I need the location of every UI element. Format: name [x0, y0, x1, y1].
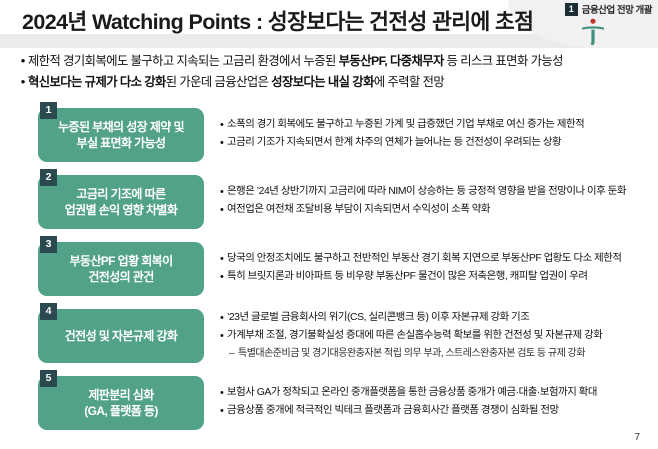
slide-canvas: 2024년 Watching Points : 성장보다는 건전성 관리에 초점…: [0, 0, 658, 449]
section-tag: 1 금융산업 전망 개괄: [565, 2, 652, 16]
row-content: • ’23년 글로벌 금융회사의 위기(CS, 실리콘뱅크 등) 이후 자본규제…: [204, 310, 658, 362]
row-content: • 당국의 안정조치에도 불구하고 전반적인 부동산 경기 회복 지연으로 부동…: [204, 251, 658, 287]
watching-points-list: 누증된 부채의 성장 제약 및 부실 표면화 가능성 1 • 소폭의 경기 회복…: [0, 104, 658, 439]
page-number: 7: [634, 432, 640, 443]
row-content: • 은행은 ’24년 상반기까지 고금리에 따라 NIM이 상승하는 등 긍정적…: [204, 184, 658, 220]
row-label-wrapper: 건전성 및 자본규제 강화 4: [38, 309, 204, 363]
row-label-text: 누증된 부채의 성장 제약 및 부실 표면화 가능성: [58, 119, 184, 151]
row-number-badge: 5: [40, 370, 57, 387]
content-bullet-item: • 금융상품 중개에 적극적인 빅테크 플랫폼과 금융회사간 플랫폼 경쟁이 심…: [220, 403, 650, 419]
content-bullet-item: • 가계부채 조절, 경기불확실성 증대에 따른 손실흡수능력 확보를 위한 건…: [220, 328, 650, 344]
bullet-dot-icon: •: [220, 135, 227, 151]
content-sub-bullet-item: – 특별대손준비금 및 경기대응완충자본 적립 의무 부과, 스트레스완충자본 …: [220, 346, 650, 362]
content-bullet-text: 금융상품 중개에 적극적인 빅테크 플랫폼과 금융회사간 플랫폼 경쟁이 심화될…: [227, 403, 559, 419]
content-bullet-text: 당국의 안정조치에도 불구하고 전반적인 부동산 경기 회복 지연으로 부동산P…: [227, 251, 621, 267]
page-title: 2024년 Watching Points : 성장보다는 건전성 관리에 초점: [22, 5, 533, 36]
sub-bullet-dash-icon: –: [229, 346, 238, 362]
row-label-box[interactable]: 고금리 기조에 따른 업권별 손익 영향 차별화: [38, 175, 204, 229]
content-bullet-text: 고금리 기조가 지속되면서 한계 차주의 연체가 늘어나는 등 건전성이 우려되…: [227, 135, 561, 151]
row-label-text: 제판분리 심화 (GA, 플랫폼 등): [84, 387, 158, 419]
lead-bullet-text-plain-1: 제한적 경기회복에도 불구하고 지속되는 고금리 환경에서 누증된: [28, 54, 339, 68]
lead-bullet-text-plain-2: 에 주력할 전망: [374, 75, 444, 89]
lead-bullet-text-plain-1: 된 가운데 금융산업은: [166, 75, 271, 89]
row-label-box[interactable]: 부동산PF 업황 회복이 건전성의 관건: [38, 242, 204, 296]
content-bullet-item: • 보험사 GA가 정착되고 온라인 중개플랫폼을 통한 금융상품 중개가 예금…: [220, 385, 650, 401]
lead-bullet-text-bold-1: 혁신보다는 규제가 다소 강화: [28, 75, 166, 89]
lead-bullet-text-bold-1: 부동산PF, 다중채무자: [339, 54, 444, 68]
content-bullet-text: 가계부채 조절, 경기불확실성 증대에 따른 손실흡수능력 확보를 위한 건전성…: [227, 328, 602, 344]
bullet-dot-icon: •: [220, 184, 227, 200]
lead-bullet-list: • 제한적 경기회복에도 불구하고 지속되는 고금리 환경에서 누증된 부동산P…: [18, 52, 648, 94]
slide-header: 2024년 Watching Points : 성장보다는 건전성 관리에 초점…: [0, 0, 658, 48]
content-bullet-item: • 은행은 ’24년 상반기까지 고금리에 따라 NIM이 상승하는 등 긍정적…: [220, 184, 650, 200]
content-bullet-item: • 당국의 안정조치에도 불구하고 전반적인 부동산 경기 회복 지연으로 부동…: [220, 251, 650, 267]
content-bullet-text: 은행은 ’24년 상반기까지 고금리에 따라 NIM이 상승하는 등 긍정적 영…: [227, 184, 626, 200]
content-bullet-text: 소폭의 경기 회복에도 불구하고 누증된 가계 및 급증했던 기업 부채로 여신…: [227, 117, 584, 133]
row-label-box[interactable]: 제판분리 심화 (GA, 플랫폼 등): [38, 376, 204, 430]
bullet-dot-icon: •: [220, 310, 227, 326]
row-label-wrapper: 고금리 기조에 따른 업권별 손익 영향 차별화 2: [38, 175, 204, 229]
row-label-box[interactable]: 누증된 부채의 성장 제약 및 부실 표면화 가능성: [38, 108, 204, 162]
lead-bullet-text: 혁신보다는 규제가 다소 강화된 가운데 금융산업은 성장보다는 내실 강화에 …: [28, 73, 444, 91]
bullet-dot-icon: •: [220, 403, 227, 419]
content-bullet-text: 보험사 GA가 정착되고 온라인 중개플랫폼을 통한 금융상품 중개가 예금·대…: [227, 385, 597, 401]
lead-bullet-item: • 제한적 경기회복에도 불구하고 지속되는 고금리 환경에서 누증된 부동산P…: [18, 52, 648, 70]
bullet-dot-icon: •: [220, 269, 227, 285]
row-content: • 보험사 GA가 정착되고 온라인 중개플랫폼을 통한 금융상품 중개가 예금…: [204, 385, 658, 421]
row-number-badge: 4: [40, 303, 57, 320]
watching-point-row: 고금리 기조에 따른 업권별 손익 영향 차별화 2 • 은행은 ’24년 상반…: [0, 171, 658, 233]
bullet-dot-icon: •: [220, 328, 227, 344]
bullet-dot-icon: •: [18, 73, 28, 91]
row-number-badge: 1: [40, 102, 57, 119]
content-bullet-item: • 여전업은 여전채 조달비용 부담이 지속되면서 수익성이 소폭 약화: [220, 202, 650, 218]
row-label-box[interactable]: 건전성 및 자본규제 강화: [38, 309, 204, 363]
row-label-text: 건전성 및 자본규제 강화: [65, 328, 178, 344]
bullet-dot-icon: •: [220, 251, 227, 267]
brand-logo-icon: [580, 18, 606, 46]
section-number-badge: 1: [565, 3, 578, 16]
row-number-badge: 3: [40, 236, 57, 253]
watching-point-row: 부동산PF 업황 회복이 건전성의 관건 3 • 당국의 안정조치에도 불구하고…: [0, 238, 658, 300]
watching-point-row: 누증된 부채의 성장 제약 및 부실 표면화 가능성 1 • 소폭의 경기 회복…: [0, 104, 658, 166]
content-sub-bullet-text: 특별대손준비금 및 경기대응완충자본 적립 의무 부과, 스트레스완충자본 검토…: [238, 346, 585, 362]
content-bullet-item: • ’23년 글로벌 금융회사의 위기(CS, 실리콘뱅크 등) 이후 자본규제…: [220, 310, 650, 326]
row-number-badge: 2: [40, 169, 57, 186]
content-bullet-text: ’23년 글로벌 금융회사의 위기(CS, 실리콘뱅크 등) 이후 자본규제 강…: [227, 310, 529, 326]
lead-bullet-text: 제한적 경기회복에도 불구하고 지속되는 고금리 환경에서 누증된 부동산PF,…: [28, 52, 563, 70]
lead-bullet-text-plain-2: 등 리스크 표면화 가능성: [444, 54, 563, 68]
row-label-text: 고금리 기조에 따른 업권별 손익 영향 차별화: [65, 186, 178, 218]
content-bullet-text: 특히 브릿지론과 비아파트 등 비우량 부동산PF 물건이 많은 저축은행, 캐…: [227, 269, 587, 285]
bullet-dot-icon: •: [18, 52, 28, 70]
section-label: 금융산업 전망 개괄: [582, 2, 652, 16]
lead-bullet-text-bold-2: 성장보다는 내실 강화: [271, 75, 374, 89]
watching-point-row: 제판분리 심화 (GA, 플랫폼 등) 5 • 보험사 GA가 정착되고 온라인…: [0, 372, 658, 434]
bullet-dot-icon: •: [220, 385, 227, 401]
lead-bullet-item: • 혁신보다는 규제가 다소 강화된 가운데 금융산업은 성장보다는 내실 강화…: [18, 73, 648, 91]
content-bullet-item: • 특히 브릿지론과 비아파트 등 비우량 부동산PF 물건이 많은 저축은행,…: [220, 269, 650, 285]
row-label-wrapper: 누증된 부채의 성장 제약 및 부실 표면화 가능성 1: [38, 108, 204, 162]
row-content: • 소폭의 경기 회복에도 불구하고 누증된 가계 및 급증했던 기업 부채로 …: [204, 117, 658, 153]
content-bullet-item: • 소폭의 경기 회복에도 불구하고 누증된 가계 및 급증했던 기업 부채로 …: [220, 117, 650, 133]
content-bullet-item: • 고금리 기조가 지속되면서 한계 차주의 연체가 늘어나는 등 건전성이 우…: [220, 135, 650, 151]
bullet-dot-icon: •: [220, 117, 227, 133]
watching-point-row: 건전성 및 자본규제 강화 4 • ’23년 글로벌 금융회사의 위기(CS, …: [0, 305, 658, 367]
row-label-wrapper: 제판분리 심화 (GA, 플랫폼 등) 5: [38, 376, 204, 430]
content-bullet-text: 여전업은 여전채 조달비용 부담이 지속되면서 수익성이 소폭 약화: [227, 202, 490, 218]
bullet-dot-icon: •: [220, 202, 227, 218]
row-label-text: 부동산PF 업황 회복이 건전성의 관건: [69, 253, 172, 285]
row-label-wrapper: 부동산PF 업황 회복이 건전성의 관건 3: [38, 242, 204, 296]
